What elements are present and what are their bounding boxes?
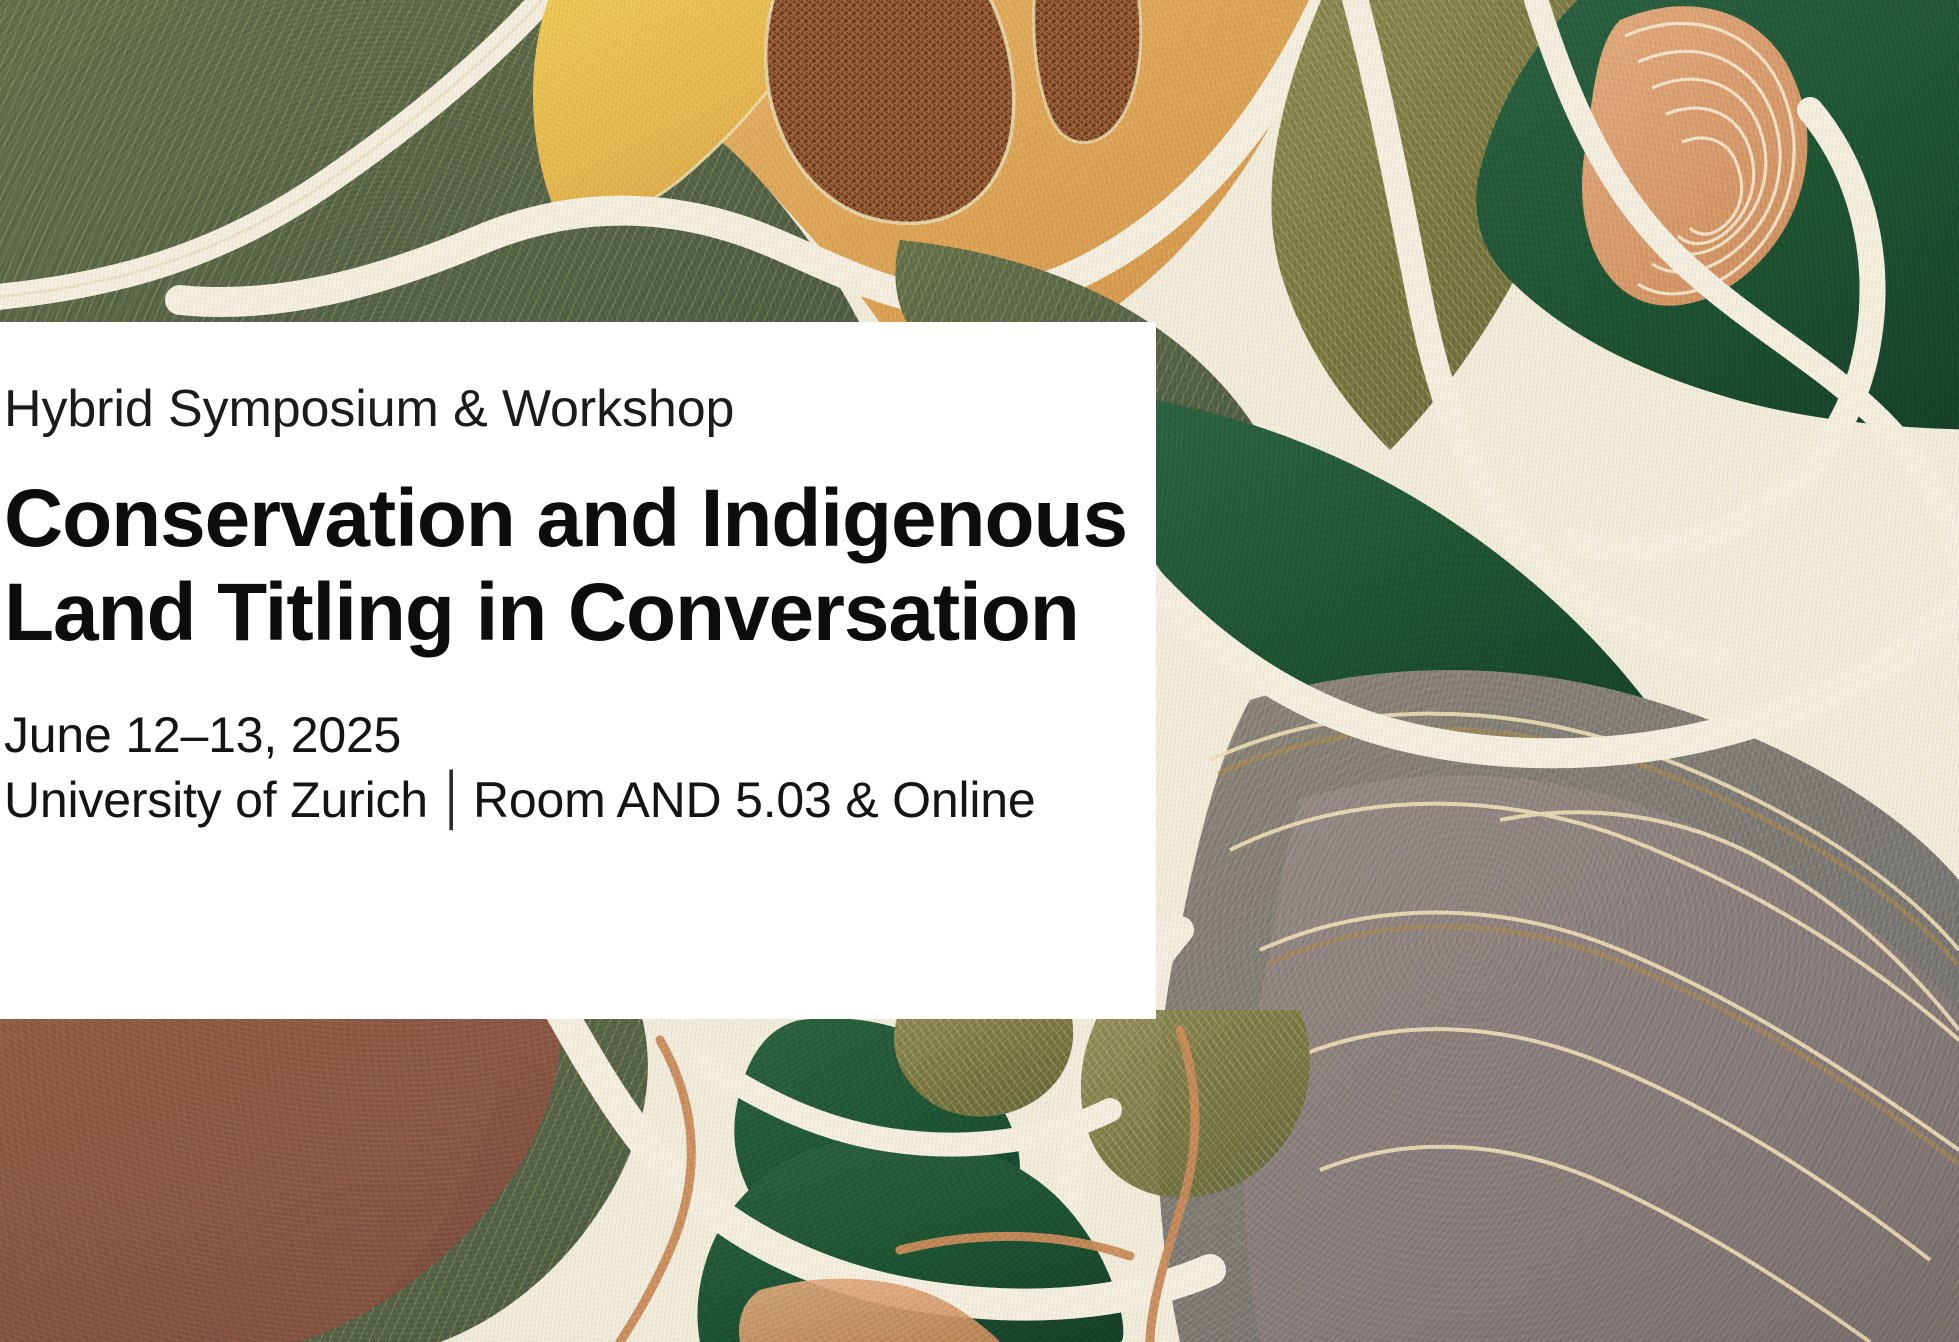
event-title: Conservation and Indigenous Land Titling… bbox=[4, 472, 1086, 659]
event-date: June 12–13, 2025 bbox=[4, 703, 1086, 768]
venue-room: Room AND 5.03 & Online bbox=[473, 772, 1036, 828]
event-details: June 12–13, 2025 University of Zurich│Ro… bbox=[4, 703, 1086, 833]
venue-separator-bar: │ bbox=[428, 766, 473, 831]
event-poster: Hybrid Symposium & Workshop Conservation… bbox=[0, 0, 1959, 1342]
venue-institution: University of Zurich bbox=[4, 772, 428, 828]
event-title-line-2: Land Titling in Conversation bbox=[4, 566, 1086, 659]
event-info-card: Hybrid Symposium & Workshop Conservation… bbox=[0, 322, 1156, 1019]
event-title-line-1: Conservation and Indigenous bbox=[4, 472, 1086, 565]
event-venue: University of Zurich│Room AND 5.03 & Onl… bbox=[4, 768, 1086, 833]
event-type-kicker: Hybrid Symposium & Workshop bbox=[4, 380, 1086, 438]
